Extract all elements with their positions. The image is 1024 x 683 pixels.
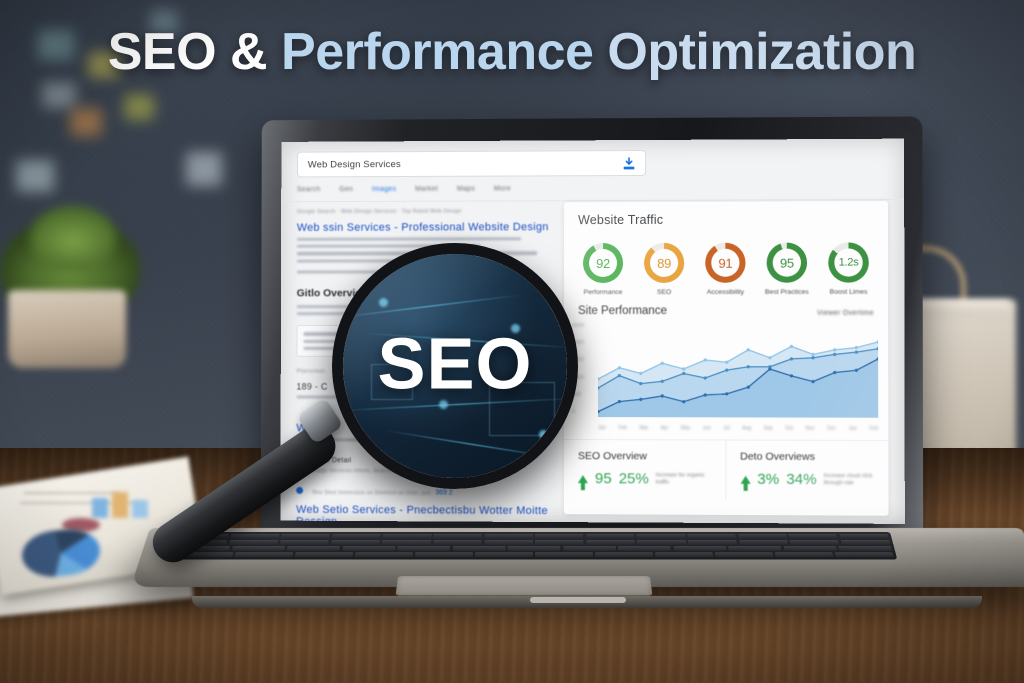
keyboard-key[interactable] [484,534,532,538]
keyboard-key[interactable] [715,553,773,557]
sticky-note-orange [70,108,102,136]
gauge-accessibility[interactable]: 91 Accessibility [696,243,754,297]
keyboard-keys [174,534,893,557]
website-traffic-title: Website Traffic [578,212,874,227]
sticky-note-white [16,160,54,192]
x-tick: May [681,425,691,431]
tab-gen[interactable]: Gen [339,186,353,193]
title-amp: & [230,23,267,81]
report-line [24,492,120,494]
search-input[interactable]: Web Design Services [297,150,646,177]
plant-pot [8,290,126,368]
tab-maps[interactable]: Maps [457,186,475,193]
y-tick: 0 [572,409,584,415]
keyboard-key[interactable] [841,540,891,544]
tab-more[interactable]: More [494,185,511,192]
x-tick: Jan [849,426,857,432]
x-tick: Dec [827,426,836,432]
gauge-performance[interactable]: 92 Performance [574,243,632,297]
chart-plot [598,321,878,418]
card-percent: 34% [786,471,816,488]
chart-header: Site Performance Viewer Overtime [564,301,888,317]
x-tick: Jun [703,425,711,431]
keyboard-key[interactable] [484,540,533,544]
x-tick: Nov [806,426,815,432]
keyboard-key[interactable] [637,540,686,544]
result2-title[interactable]: Web Setio Services - Pnecbectisbu Wotter… [296,504,552,524]
x-tick: Mar [639,425,648,431]
keyboard-key[interactable] [535,553,593,557]
y-tick: 4000 [572,323,584,329]
gauge-hole: 89 [650,249,678,277]
gauge-boost-limes[interactable]: 1.2s Boost Limes [819,242,878,296]
gauge-ring: 89 [644,243,684,283]
gauge-label: Performance [584,289,623,297]
keyboard-key[interactable] [331,540,380,544]
card-percent: 25% [619,470,649,487]
keyboard-key[interactable] [688,540,737,544]
card-subtext: Increase for organic traffic [656,472,711,486]
gauge-value: 95 [780,255,794,270]
download-icon[interactable] [621,156,637,172]
laptop-keyboard[interactable] [171,532,898,559]
x-tick: Sep [764,426,773,432]
title-seo: SEO [108,23,216,81]
arrow-up-icon [578,475,588,483]
chart-legend: Viewer Overtime [817,310,874,317]
results-breadcrumb: Google Search · Web Design Services · To… [297,208,552,215]
report-bar [92,498,108,518]
gauge-hole: 92 [589,249,617,277]
keyboard-key[interactable] [835,553,894,557]
keyboard-key[interactable] [231,546,285,550]
keyboard-key[interactable] [397,546,450,550]
keyboard-row [174,553,893,557]
card-title: Deto Overviews [740,451,874,464]
gauge-value: 1.2s [839,257,859,269]
page-title: SEO & Performance Optimization [0,26,1024,78]
keyboard-key[interactable] [415,553,473,557]
keyboard-key[interactable] [728,546,781,550]
keyboard-key[interactable] [235,553,293,557]
search-input-value: Web Design Services [308,159,401,170]
gauge-hole: 1.2s [834,248,862,276]
keyboard-key[interactable] [281,534,330,538]
keyboard-key[interactable] [739,540,788,544]
keyboard-key[interactable] [789,534,838,538]
link-value[interactable]: 369 2 [435,490,452,497]
sticky-note-pale [186,152,222,186]
keyboard-key[interactable] [295,553,353,557]
gauge-ring: 91 [705,243,745,283]
keyboard-key[interactable] [434,534,483,538]
keyboard-key[interactable] [687,534,736,538]
x-tick: Aug [742,425,751,431]
keyboard-key[interactable] [383,534,432,538]
keyboard-key[interactable] [535,540,584,544]
gauge-ring: 1.2s [828,242,869,282]
keyboard-key[interactable] [229,540,278,544]
gauge-value: 89 [657,255,671,270]
laptop-latch [530,597,626,603]
gauge-best-practices[interactable]: 95 Best Practices [758,243,817,297]
x-tick: Feb [869,426,878,432]
keyboard-key[interactable] [783,546,837,550]
tab-search[interactable]: Search [297,186,321,193]
link-bullet-icon [296,486,303,493]
keyboard-key[interactable] [738,534,787,538]
link-label: Res Sted Immersion on Element on User, j… [312,490,431,497]
title-optimization: Optimization [607,23,916,81]
gauge-label: SEO [657,289,671,297]
keyboard-key[interactable] [342,546,395,550]
plant-foliage-top [30,206,116,270]
keyboard-key[interactable] [595,553,653,557]
keyboard-key[interactable] [637,534,686,538]
keyboard-key[interactable] [586,534,635,538]
network-node [379,298,388,307]
network-line [343,294,522,319]
card-stat: 3% [757,471,779,488]
summary-cards: SEO Overview 95 25% Increase for organic… [564,439,889,501]
seo-overview-card: SEO Overview 95 25% Increase for organic… [564,440,725,500]
sticky-note-gray [42,82,76,108]
x-tick: Jan [598,425,606,431]
traffic-section: Website Traffic [564,201,888,233]
keyboard-row [179,534,888,538]
gauge-row: 92 Performance 89 SEO [564,232,888,301]
magnifier-lens-text: SEO [343,323,567,405]
keyboard-key[interactable] [618,546,671,550]
gauge-label: Accessibility [707,289,744,297]
keyboard-key[interactable] [838,546,892,550]
x-tick: Jul [723,425,729,431]
keyboard-key[interactable] [230,534,279,538]
arrow-up-icon [740,475,750,483]
x-axis-ticks: JanFebMarAprMayJunJulAugSepOctNovDecJanF… [598,425,878,432]
card-row: 95 25% Increase for organic traffic [578,470,711,488]
gauge-ring: 92 [583,243,623,283]
keyboard-key[interactable] [839,534,888,538]
keyboard-key[interactable] [673,546,726,550]
title-performance: Performance [281,23,593,81]
gauge-hole: 95 [773,249,801,277]
gauge-value: 91 [718,255,732,270]
keyboard-key[interactable] [775,553,833,557]
gauge-ring: 95 [767,243,807,283]
report-bar [112,492,128,518]
magnifier-lens: SEO [332,243,578,489]
tab-images[interactable]: Images [372,186,396,193]
keyboard-key[interactable] [655,553,713,557]
card-subtext: Increase cloud click through rate [824,473,875,487]
report-bar [132,500,148,518]
gauge-seo[interactable]: 89 SEO [635,243,693,297]
result-title-primary[interactable]: Web ssin Services - Professional Website… [297,221,552,234]
gauge-label: Best Practices [765,289,809,297]
browser-tabs[interactable]: Search Gen Images Market Maps More [297,185,511,193]
keyboard-key[interactable] [475,553,533,557]
card-title: SEO Overview [578,450,711,462]
chart-title: Site Performance [578,305,667,317]
keyboard-key[interactable] [355,553,413,557]
keyboard-key[interactable] [452,546,505,550]
dashboard-card: Website Traffic 92 Performance 89 [564,201,889,516]
card-row: 3% 34% Increase cloud click through rate [740,471,874,489]
gauge-hole: 91 [711,249,739,277]
keyboard-row [178,540,891,544]
tab-market[interactable]: Market [415,186,438,193]
keyboard-key[interactable] [563,546,616,550]
x-tick: Feb [618,425,627,431]
deto-overviews-card: Deto Overviews 3% 34% Increase cloud cli… [725,440,889,500]
keyboard-row [176,546,892,550]
keyboard-key[interactable] [280,540,329,544]
keyboard-key[interactable] [508,546,561,550]
keyboard-key[interactable] [382,540,431,544]
keyboard-key[interactable] [433,540,482,544]
gauge-value: 92 [596,256,610,271]
screenshot-root: Web Design Services Search Gen Images Ma… [0,0,1024,683]
keyboard-key[interactable] [332,534,381,538]
keyboard-key[interactable] [790,540,839,544]
x-tick: Apr [661,425,669,431]
card-stat: 95 [595,470,612,487]
laptop-trackpad[interactable] [396,576,653,596]
keyboard-key[interactable] [287,546,340,550]
keyboard-key[interactable] [586,540,635,544]
site-performance-chart: 4000 3000 2000 1000 500 0 JanFebMarAprMa… [572,321,880,430]
snippet-line [297,237,521,241]
x-tick: Oct [785,426,793,432]
sticky-note-yellow [124,94,154,120]
magnifier-lens-content: SEO [343,254,567,478]
keyboard-key[interactable] [535,534,583,538]
gauge-label: Boost Limes [830,289,868,297]
